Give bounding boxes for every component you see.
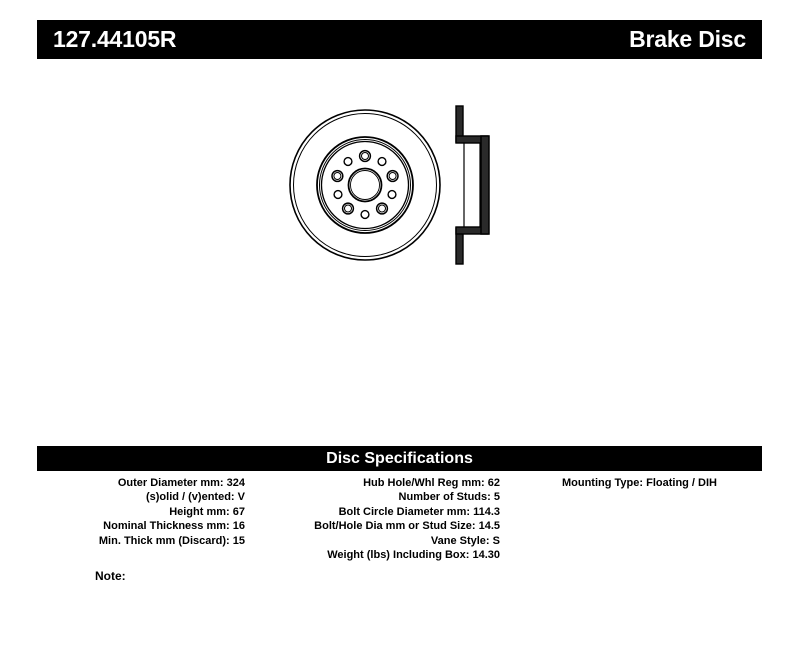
spec-label: Hub Hole/Whl Reg mm: [363, 477, 488, 489]
note-field: Note: [95, 570, 126, 582]
spec-value: 324 [227, 477, 245, 489]
spec-row: Bolt Circle Diameter mm: 114.3 [250, 505, 500, 519]
spec-value: 114.3 [473, 506, 500, 518]
spec-row: Nominal Thickness mm: 16 [37, 519, 245, 533]
spec-label: Mounting Type: [562, 477, 646, 489]
spec-label: Bolt Circle Diameter mm: [339, 506, 473, 518]
spec-value: V [238, 491, 245, 503]
spec-row: Number of Studs: 5 [250, 490, 500, 504]
spec-label: Min. Thick mm (Discard): [99, 535, 233, 547]
spec-value: 62 [488, 477, 500, 489]
spec-label: Outer Diameter mm: [118, 477, 227, 489]
spec-row: Hub Hole/Whl Reg mm: 62 [250, 476, 500, 490]
spec-value: 14.30 [472, 549, 500, 561]
spec-row: Bolt/Hole Dia mm or Stud Size: 14.5 [250, 519, 500, 533]
spec-label: Nominal Thickness mm: [103, 520, 233, 532]
spec-row: Min. Thick mm (Discard): 15 [37, 534, 245, 548]
stud-holes [332, 151, 398, 214]
spec-column-left: Outer Diameter mm: 324 (s)olid / (v)ente… [37, 476, 245, 548]
spec-value: Floating / DIH [646, 477, 717, 489]
spec-label: Vane Style: [431, 535, 493, 547]
spec-label: (s)olid / (v)ented: [146, 491, 238, 503]
brake-disc-edge-view [456, 106, 489, 264]
spec-label: Number of Studs: [399, 491, 494, 503]
spec-value: S [493, 535, 500, 547]
spec-label: Weight (lbs) Including Box: [327, 549, 472, 561]
spec-header-bar: Disc Specifications [37, 446, 762, 471]
brake-disc-face-view [290, 110, 440, 260]
spec-label: Bolt/Hole Dia mm or Stud Size: [314, 520, 478, 532]
spec-value: 16 [233, 520, 245, 532]
spec-value: 5 [494, 491, 500, 503]
brake-disc-drawing [280, 100, 520, 290]
spec-row: (s)olid / (v)ented: V [37, 490, 245, 504]
spec-row: Mounting Type: Floating / DIH [517, 476, 762, 490]
spec-column-middle: Hub Hole/Whl Reg mm: 62 Number of Studs:… [250, 476, 500, 562]
spec-section-title: Disc Specifications [326, 451, 473, 467]
spec-column-right: Mounting Type: Floating / DIH [517, 476, 762, 490]
spec-value: 15 [233, 535, 245, 547]
part-number: 127.44105R [53, 28, 176, 51]
product-type: Brake Disc [629, 28, 746, 51]
spec-row: Weight (lbs) Including Box: 14.30 [250, 548, 500, 562]
spec-row: Outer Diameter mm: 324 [37, 476, 245, 490]
spec-value: 67 [233, 506, 245, 518]
spec-row: Vane Style: S [250, 534, 500, 548]
spec-row: Height mm: 67 [37, 505, 245, 519]
note-label: Note: [95, 569, 126, 583]
spec-value: 14.5 [479, 520, 500, 532]
title-bar: 127.44105R Brake Disc [37, 20, 762, 59]
spec-label: Height mm: [169, 506, 233, 518]
